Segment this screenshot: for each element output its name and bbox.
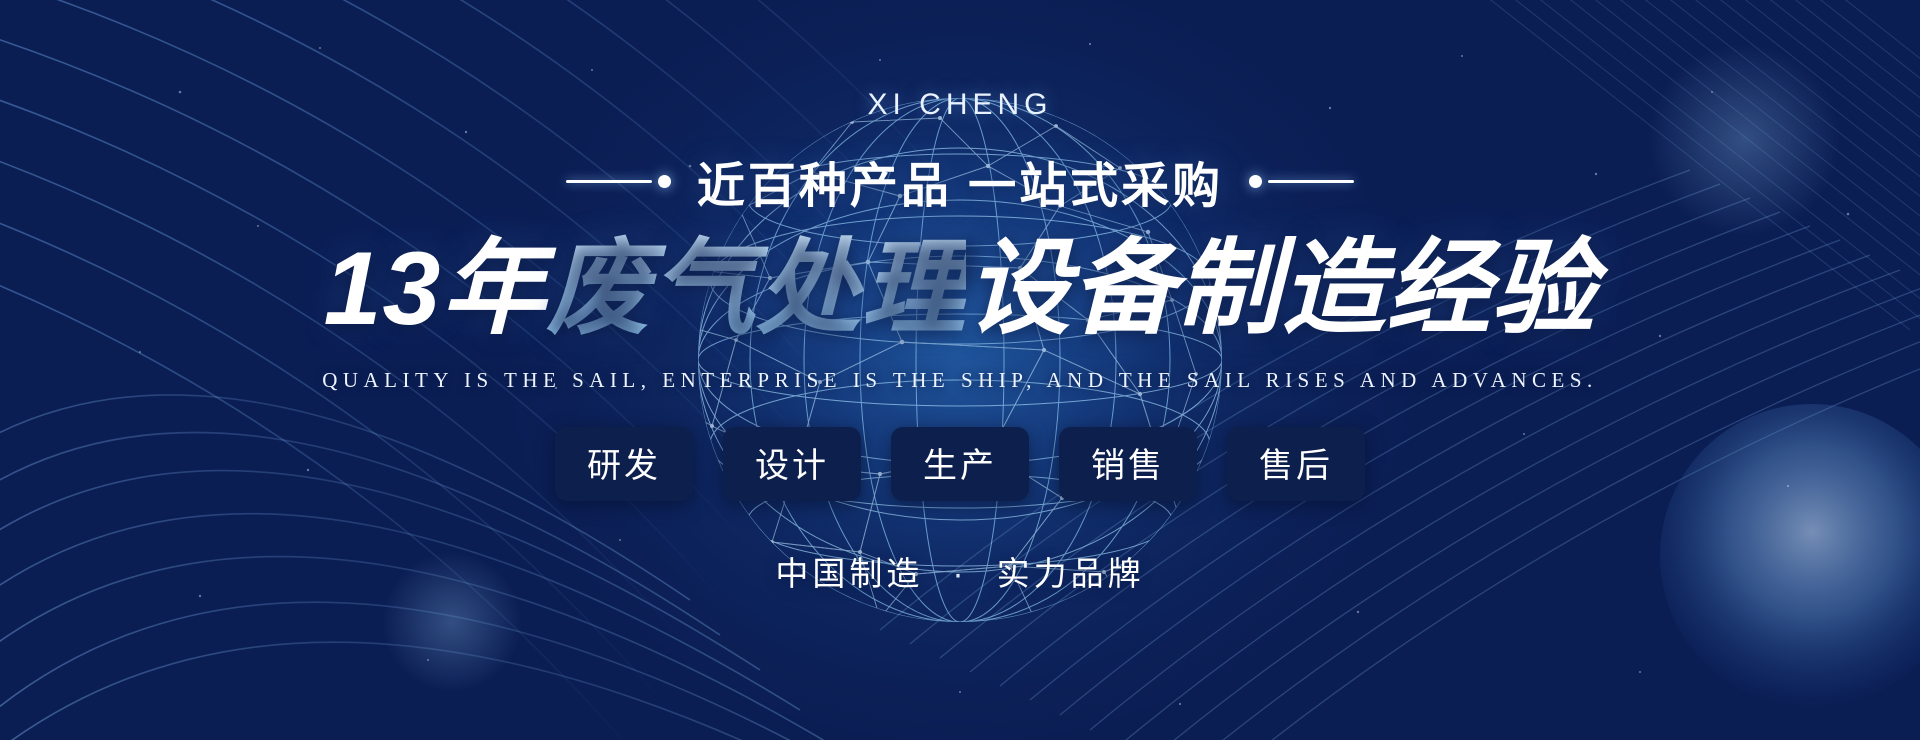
hero-banner: XI CHENG 近百种产品 一站式采购 13年废气处理设备制造经验 QUALI…: [0, 0, 1920, 740]
footer-slogan-left: 中国制造: [775, 555, 923, 592]
left-line-dot-decoration: [566, 175, 671, 188]
headline-years: 13年: [324, 231, 547, 347]
service-pill-design[interactable]: 设计: [723, 427, 861, 501]
service-pill-production[interactable]: 生产: [891, 427, 1029, 501]
service-pill-list: 研发 设计 生产 销售 售后: [555, 427, 1365, 501]
banner-headline: 13年废气处理设备制造经验: [324, 230, 1597, 350]
right-dot-line-decoration: [1249, 175, 1354, 188]
footer-slogan: 中国制造 · 实力品牌: [775, 547, 1144, 595]
brand-english-name: XI CHENG: [867, 88, 1052, 122]
headline-tail: 设备制造经验: [966, 231, 1596, 347]
service-pill-sales[interactable]: 销售: [1059, 427, 1197, 501]
banner-subtitle: 近百种产品 一站式采购: [697, 146, 1223, 216]
english-tagline: QUALITY IS THE SAIL, ENTERPRISE IS THE S…: [322, 368, 1598, 393]
banner-content: XI CHENG 近百种产品 一站式采购 13年废气处理设备制造经验 QUALI…: [0, 0, 1920, 740]
deco-dot-left: [658, 175, 671, 188]
footer-slogan-separator: ·: [937, 555, 984, 593]
service-pill-aftersales[interactable]: 售后: [1227, 427, 1365, 501]
headline-highlight: 废气处理: [546, 231, 966, 347]
service-pill-rd[interactable]: 研发: [555, 427, 693, 501]
deco-dot-right: [1249, 175, 1262, 188]
subtitle-row: 近百种产品 一站式采购: [566, 146, 1354, 216]
footer-slogan-right: 实力品牌: [997, 555, 1145, 592]
deco-bar-right: [1268, 180, 1354, 183]
deco-bar-left: [566, 180, 652, 183]
